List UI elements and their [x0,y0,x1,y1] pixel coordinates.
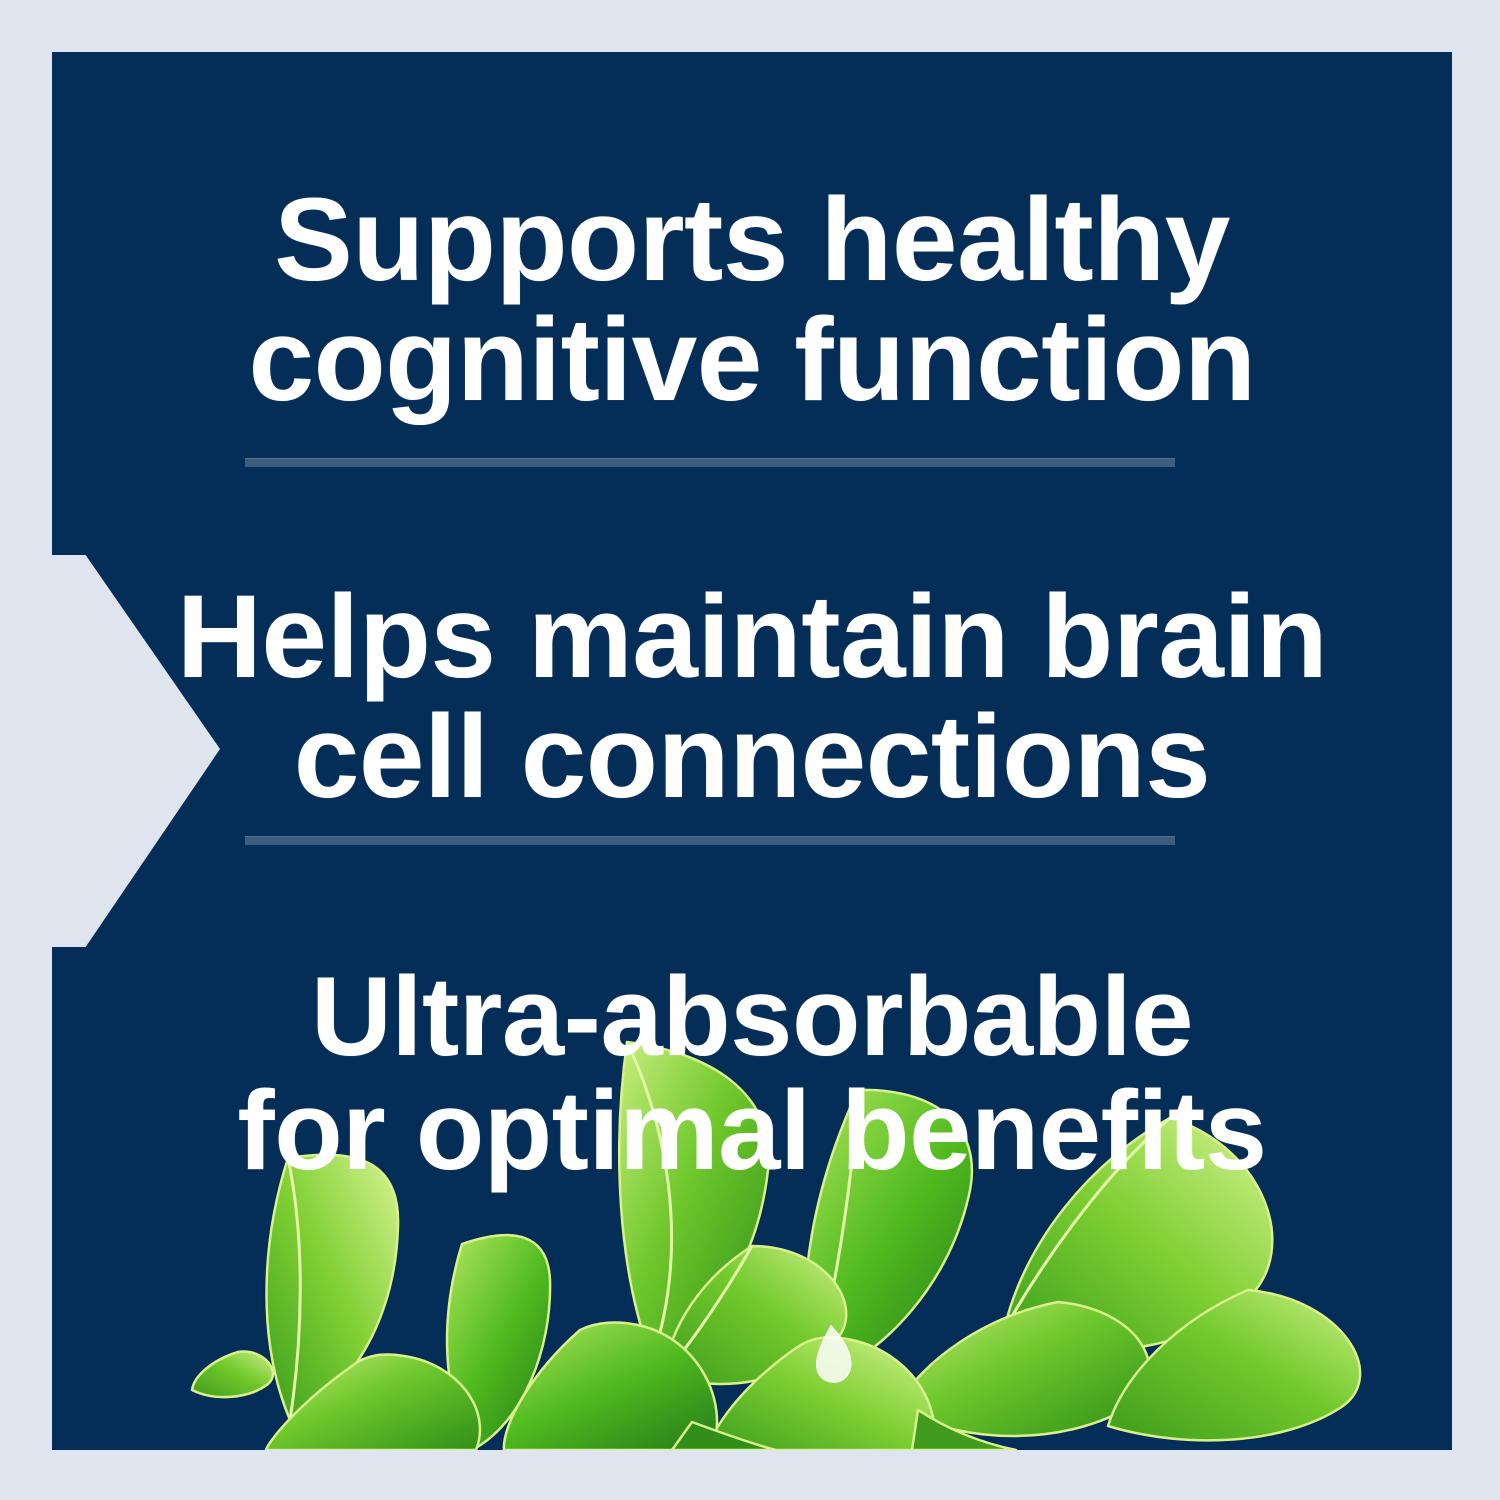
benefits-content: Supports healthy cognitive function Help… [52,52,1452,1450]
benefit-heading-2-line-2: cell connections [52,697,1452,817]
benefit-heading-1-line-2: cognitive function [52,300,1452,420]
benefit-heading-2-line-1: Helps maintain brain [52,577,1452,697]
product-benefits-graphic: Supports healthy cognitive function Help… [0,0,1500,1500]
benefit-heading-2: Helps maintain brain cell connections [52,577,1452,818]
benefit-heading-3: Ultra-absorbable for optimal benefits [52,960,1452,1188]
benefit-heading-3-line-2: for optimal benefits [52,1074,1452,1188]
benefit-heading-1-line-1: Supports healthy [52,180,1452,300]
benefit-heading-1: Supports healthy cognitive function [52,180,1452,421]
benefit-heading-3-line-1: Ultra-absorbable [52,960,1452,1074]
